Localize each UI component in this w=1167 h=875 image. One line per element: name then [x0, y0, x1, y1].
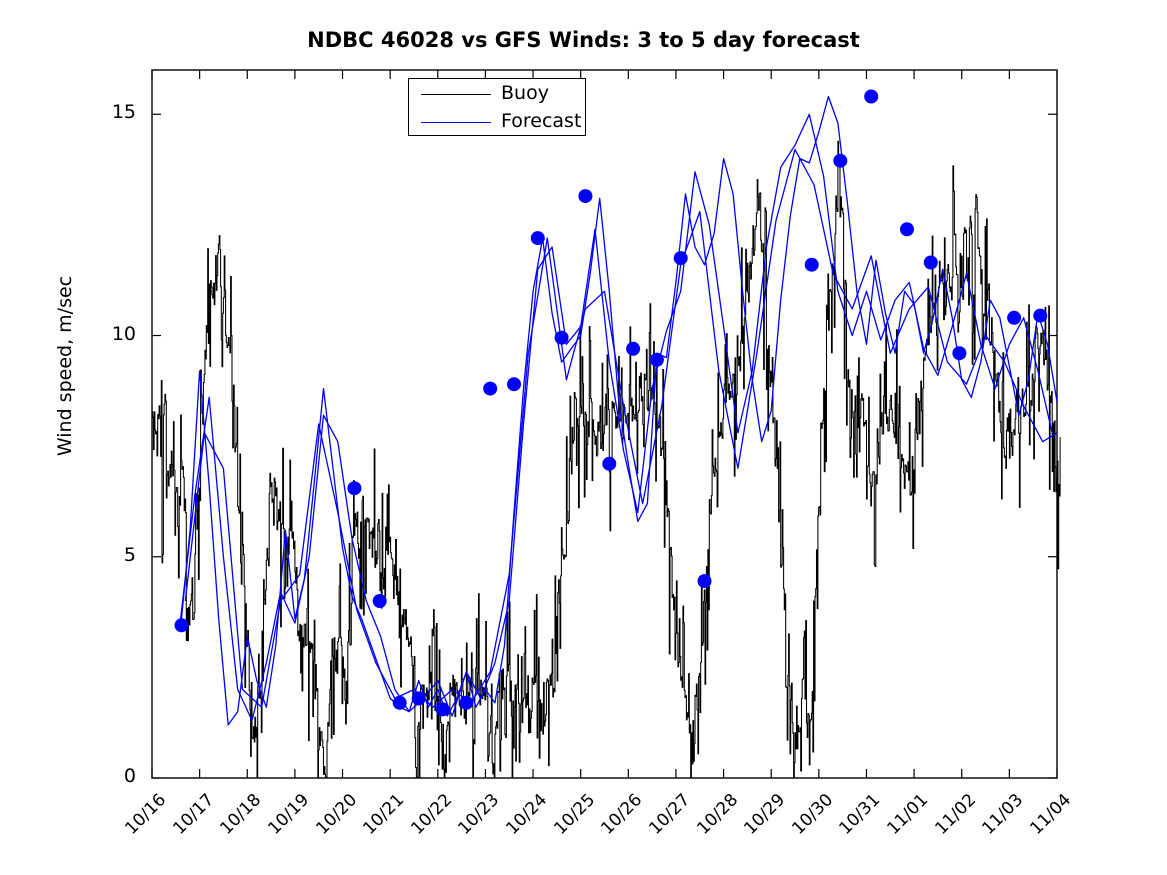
forecast-marker [555, 331, 569, 345]
forecast-marker [626, 342, 640, 356]
forecast-marker [674, 251, 688, 265]
forecast-marker [1007, 311, 1021, 325]
legend-item-buoy: Buoy [409, 80, 587, 109]
legend-swatch-forecast [421, 122, 491, 123]
forecast-marker [412, 691, 426, 705]
forecast-marker [578, 189, 592, 203]
forecast-marker [1033, 309, 1047, 323]
legend-swatch-buoy [421, 94, 491, 95]
y-tick-label: 0 [96, 765, 136, 787]
forecast-marker [952, 346, 966, 360]
forecast-marker [864, 90, 878, 104]
forecast-marker [436, 702, 450, 716]
legend-label-forecast: Forecast [501, 110, 581, 132]
legend-item-forecast: Forecast [409, 108, 587, 137]
chart-legend: Buoy Forecast [408, 78, 586, 136]
forecast-marker [833, 154, 847, 168]
forecast-marker [373, 594, 387, 608]
forecast-marker [900, 222, 914, 236]
forecast-marker [459, 696, 473, 710]
forecast-marker [175, 618, 189, 632]
series-forecast [185, 150, 1057, 708]
forecast-marker [483, 382, 497, 396]
y-tick-label: 10 [96, 323, 136, 345]
forecast-marker [602, 457, 616, 471]
data-series [152, 97, 1060, 778]
forecast-marker [393, 696, 407, 710]
forecast-marker [924, 256, 938, 270]
legend-label-buoy: Buoy [501, 82, 549, 104]
forecast-marker [805, 258, 819, 272]
chart-canvas: NDBC 46028 vs GFS Winds: 3 to 5 day fore… [0, 0, 1167, 875]
y-tick-label: 15 [96, 101, 136, 123]
forecast-marker [507, 377, 521, 391]
forecast-marker [531, 231, 545, 245]
y-tick-label: 5 [96, 544, 136, 566]
forecast-marker [347, 481, 361, 495]
forecast-marker [698, 574, 712, 588]
forecast-marker [650, 353, 664, 367]
